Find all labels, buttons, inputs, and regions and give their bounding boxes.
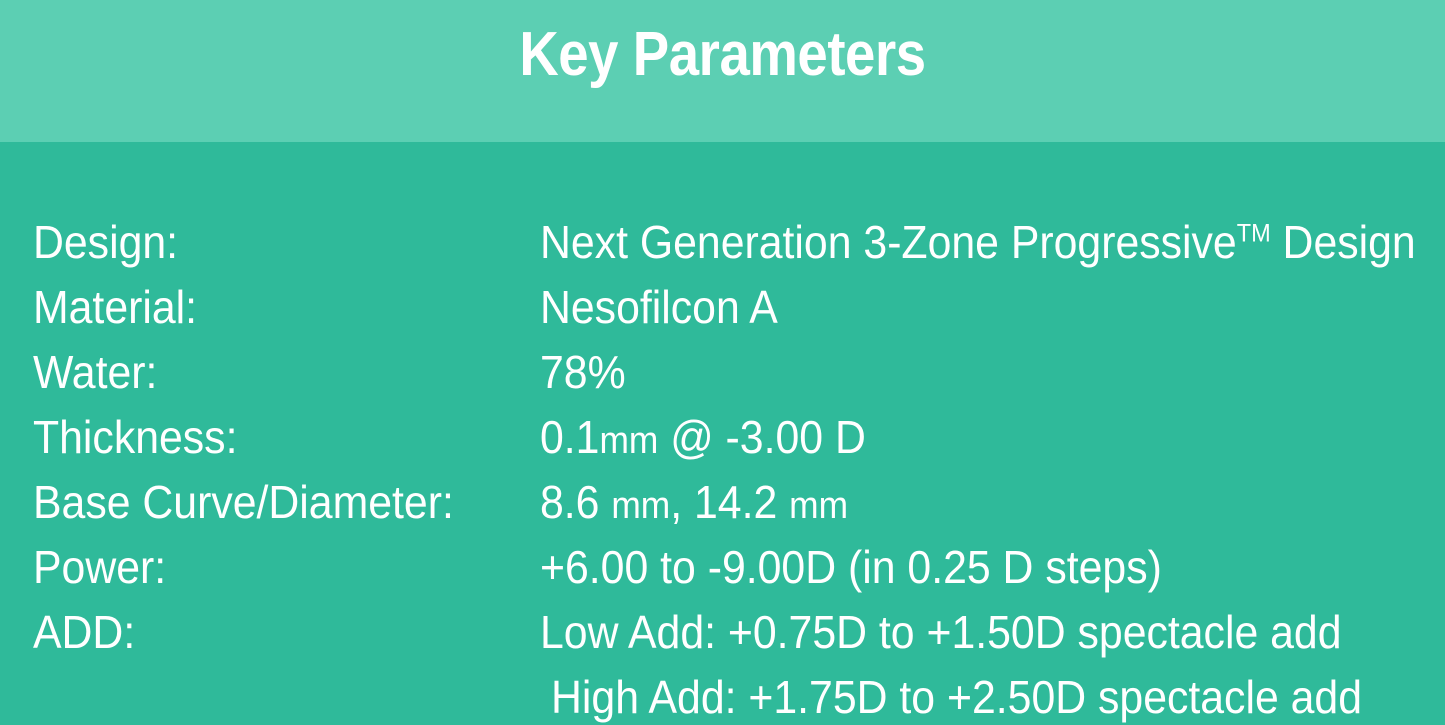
param-value-add-high: High Add: +1.75D to +2.50D spectacle add (551, 667, 1362, 725)
param-label-material: Material: (33, 277, 197, 337)
param-label-thickness: Thickness: (33, 407, 237, 467)
key-parameters-slide: Key Parameters Design: Next Generation 3… (0, 0, 1445, 725)
table-row: Base Curve/Diameter: 8.6 mm, 14.2 mm (0, 472, 1445, 537)
thickness-value-tail: @ -3.00 D (658, 411, 865, 463)
base-curve-value: 8.6 (540, 476, 611, 528)
table-row: ADD: Low Add: +0.75D to +1.50D spectacle… (0, 602, 1445, 667)
diameter-value: , 14.2 (670, 476, 789, 528)
trademark-superscript: TM (1237, 220, 1271, 248)
param-value-material: Nesofilcon A (540, 277, 778, 337)
table-row: Water: 78% (0, 342, 1445, 407)
param-value-design: Next Generation 3-Zone ProgressiveTM Des… (540, 212, 1416, 272)
param-value-add-low: Low Add: +0.75D to +1.50D spectacle add (540, 602, 1342, 662)
param-label-power: Power: (33, 537, 166, 597)
table-row: Design: Next Generation 3-Zone Progressi… (0, 212, 1445, 277)
table-row: High Add: +1.75D to +2.50D spectacle add (0, 667, 1445, 725)
param-value-power: +6.00 to -9.00D (in 0.25 D steps) (540, 537, 1162, 597)
param-value-water: 78% (540, 342, 626, 402)
thickness-value-main: 0.1 (540, 411, 599, 463)
param-value-base-curve-diameter: 8.6 mm, 14.2 mm (540, 472, 848, 536)
param-label-design: Design: (33, 212, 178, 272)
table-row: Power: +6.00 to -9.00D (in 0.25 D steps) (0, 537, 1445, 602)
param-value-thickness: 0.1mm @ -3.00 D (540, 407, 866, 471)
param-label-add: ADD: (33, 602, 135, 662)
design-value-tail: Design (1271, 216, 1416, 268)
table-row: Material: Nesofilcon A (0, 277, 1445, 342)
diameter-unit: mm (789, 485, 848, 527)
header-band: Key Parameters (0, 0, 1445, 142)
base-curve-unit: mm (611, 485, 670, 527)
parameters-table: Design: Next Generation 3-Zone Progressi… (0, 142, 1445, 725)
table-row: Thickness: 0.1mm @ -3.00 D (0, 407, 1445, 472)
thickness-unit: mm (599, 420, 658, 462)
param-label-water: Water: (33, 342, 157, 402)
param-label-base-curve-diameter: Base Curve/Diameter: (33, 472, 454, 532)
design-value-main: Next Generation 3-Zone Progressive (540, 216, 1237, 268)
page-title: Key Parameters (87, 22, 1359, 88)
